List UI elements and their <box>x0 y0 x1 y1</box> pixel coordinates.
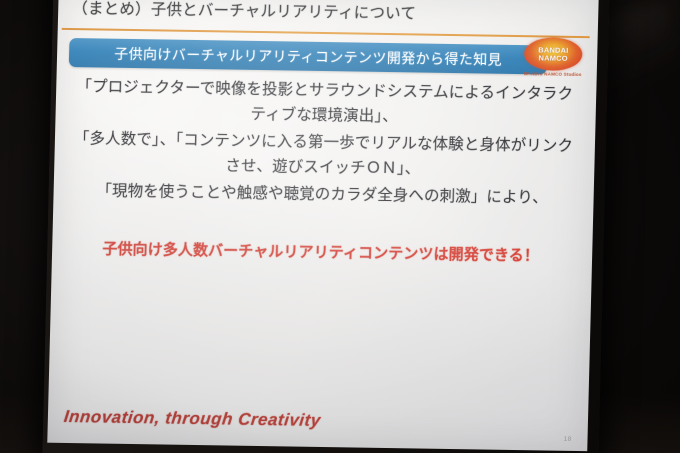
projected-slide-photo: （まとめ）子供とバーチャルリアリティについて 子供向けバーチャルリアリティコンテ… <box>0 0 680 453</box>
logo-line-2: NAMCO <box>538 54 568 62</box>
slide-body-text: 「プロジェクターで映像を投影とサラウンドシステムによるインタラクティブな環境演出… <box>69 74 577 213</box>
presentation-slide: （まとめ）子供とバーチャルリアリティについて 子供向けバーチャルリアリティコンテ… <box>47 0 598 451</box>
footer-tagline: Innovation, through Creativity <box>63 407 322 431</box>
bandai-namco-logo: BANDAI NAMCO BANDAI NAMCO Studios <box>521 37 586 77</box>
slide-title: （まとめ）子供とバーチャルリアリティについて <box>72 0 416 23</box>
body-paragraph-3: 「現物を使うことや触感や聴覚のカラダ全身への刺激」により、 <box>69 178 575 211</box>
conclusion-statement: 子供向け多人数バーチャルリアリティコンテンツは開発できる！ <box>68 238 574 268</box>
body-paragraph-1: 「プロジェクターで映像を投影とサラウンドシステムによるインタラクティブな環境演出… <box>71 74 577 132</box>
section-heading-banner: 子供向けバーチャルリアリティコンテンツ開発から得た知見 <box>69 38 548 74</box>
section-heading-label: 子供向けバーチャルリアリティコンテンツ開発から得た知見 <box>114 43 502 69</box>
title-divider-rule <box>62 28 590 38</box>
body-paragraph-2: 「多人数で」、「コンテンツに入る第一歩でリアルな体験と身体がリンクさせ、遊びスイ… <box>70 126 576 184</box>
slide-page-number: 18 <box>564 436 572 443</box>
logo-oval-mark: BANDAI NAMCO <box>524 37 583 71</box>
logo-subtitle: BANDAI NAMCO Studios <box>521 71 585 77</box>
